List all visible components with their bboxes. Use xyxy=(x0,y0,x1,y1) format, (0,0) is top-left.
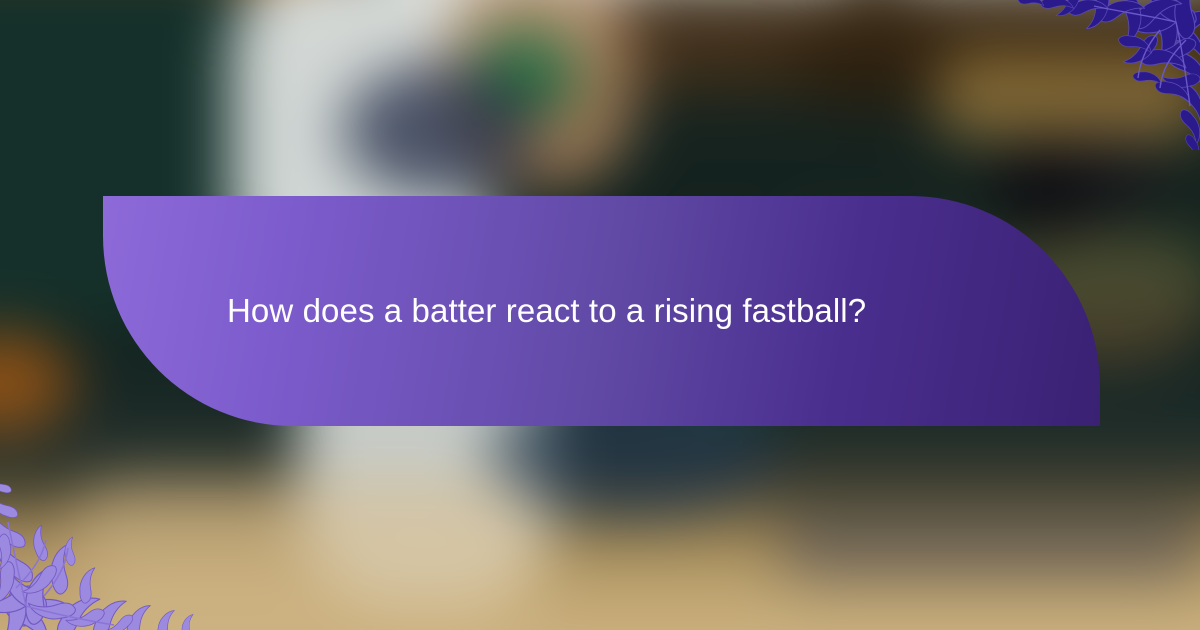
social-card: How does a batter react to a rising fast… xyxy=(0,0,1200,630)
background-shape-shadow xyxy=(342,63,532,197)
background-shape-dirt-highlight xyxy=(62,477,544,623)
background-shape-bench xyxy=(936,52,1200,142)
headline-banner: How does a batter react to a rising fast… xyxy=(103,196,1100,426)
background-shape-dirt-left xyxy=(0,522,107,623)
background-shape-dark-foreground xyxy=(779,505,1200,583)
page-title: How does a batter react to a rising fast… xyxy=(227,196,1027,426)
